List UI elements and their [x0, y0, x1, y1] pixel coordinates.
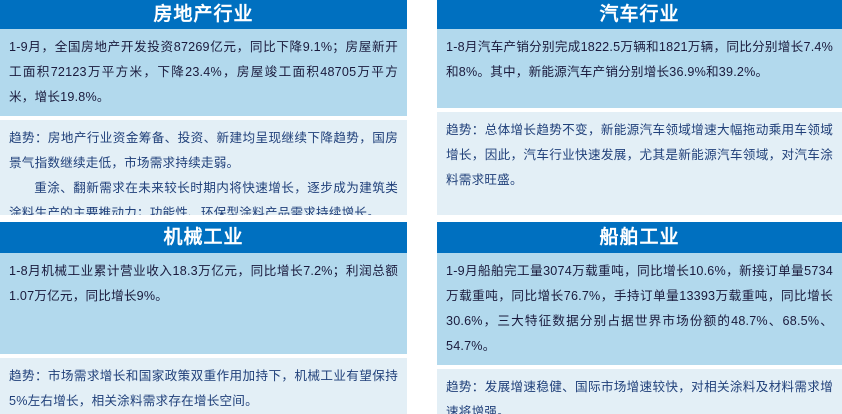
- panel-trend-extra-text: 重涂、翻新需求在未来较长时期内将快速增长，逐步成为建筑类涂料生产的主要推动力；功…: [9, 176, 398, 215]
- panel-real-estate: 房地产行业 1-9月，全国房地产开发投资87269亿元，同比下降9.1%；房屋新…: [0, 0, 407, 215]
- panel-trend-text: 趋势：总体增长趋势不变，新能源汽车领域增速大幅拖动乘用车领域增长，因此，汽车行业…: [446, 118, 833, 193]
- panel-trend-automotive: 趋势：总体增长趋势不变，新能源汽车领域增速大幅拖动乘用车领域增长，因此，汽车行业…: [437, 112, 842, 215]
- panel-trend-text: 趋势：市场需求增长和国家政策双重作用加持下，机械工业有望保持5%左右增长，相关涂…: [9, 364, 398, 414]
- row-spacer: [0, 215, 407, 222]
- panel-body-machinery: 1-8月机械工业累计营业收入18.3万亿元，同比增长7.2%；利润总额1.07万…: [0, 253, 407, 354]
- panel-body-text: 1-8月汽车产销分别完成1822.5万辆和1821万辆，同比分别增长7.4%和8…: [446, 35, 833, 85]
- panel-trend-machinery: 趋势：市场需求增长和国家政策双重作用加持下，机械工业有望保持5%左右增长，相关涂…: [0, 358, 407, 414]
- panel-machinery: 机械工业 1-8月机械工业累计营业收入18.3万亿元，同比增长7.2%；利润总额…: [0, 222, 407, 414]
- panel-title-shipbuilding: 船舶工业: [437, 222, 842, 253]
- panel-body-real-estate: 1-9月，全国房地产开发投资87269亿元，同比下降9.1%；房屋新开工面积72…: [0, 29, 407, 116]
- panel-title-machinery: 机械工业: [0, 222, 407, 253]
- panel-body-shipbuilding: 1-9月船舶完工量3074万载重吨，同比增长10.6%，新接订单量5734万载重…: [437, 253, 842, 365]
- column-spacer: [407, 222, 437, 414]
- row-spacer: [437, 215, 842, 222]
- panel-title-automotive: 汽车行业: [437, 0, 842, 29]
- panel-body-text: 1-9月船舶完工量3074万载重吨，同比增长10.6%，新接订单量5734万载重…: [446, 259, 833, 359]
- industry-overview-board: 房地产行业 1-9月，全国房地产开发投资87269亿元，同比下降9.1%；房屋新…: [0, 0, 842, 414]
- panel-trend-text: 趋势：发展增速稳健、国际市场增速较快，对相关涂料及材料需求增速将增强。: [446, 375, 833, 414]
- column-spacer: [407, 0, 437, 215]
- panel-trend-text: 趋势：房地产行业资金筹备、投资、新建均呈现继续下降趋势，国房景气指数继续走低，市…: [9, 126, 398, 176]
- panel-shipbuilding: 船舶工业 1-9月船舶完工量3074万载重吨，同比增长10.6%，新接订单量57…: [437, 222, 842, 414]
- row-spacer: [407, 215, 437, 222]
- panel-automotive: 汽车行业 1-8月汽车产销分别完成1822.5万辆和1821万辆，同比分别增长7…: [437, 0, 842, 215]
- panel-body-automotive: 1-8月汽车产销分别完成1822.5万辆和1821万辆，同比分别增长7.4%和8…: [437, 29, 842, 108]
- panel-trend-shipbuilding: 趋势：发展增速稳健、国际市场增速较快，对相关涂料及材料需求增速将增强。: [437, 369, 842, 414]
- panel-body-text: 1-8月机械工业累计营业收入18.3万亿元，同比增长7.2%；利润总额1.07万…: [9, 259, 398, 309]
- panel-trend-real-estate: 趋势：房地产行业资金筹备、投资、新建均呈现继续下降趋势，国房景气指数继续走低，市…: [0, 120, 407, 215]
- panel-body-text: 1-9月，全国房地产开发投资87269亿元，同比下降9.1%；房屋新开工面积72…: [9, 35, 398, 110]
- panel-grid: 房地产行业 1-9月，全国房地产开发投资87269亿元，同比下降9.1%；房屋新…: [0, 0, 842, 414]
- panel-title-real-estate: 房地产行业: [0, 0, 407, 29]
